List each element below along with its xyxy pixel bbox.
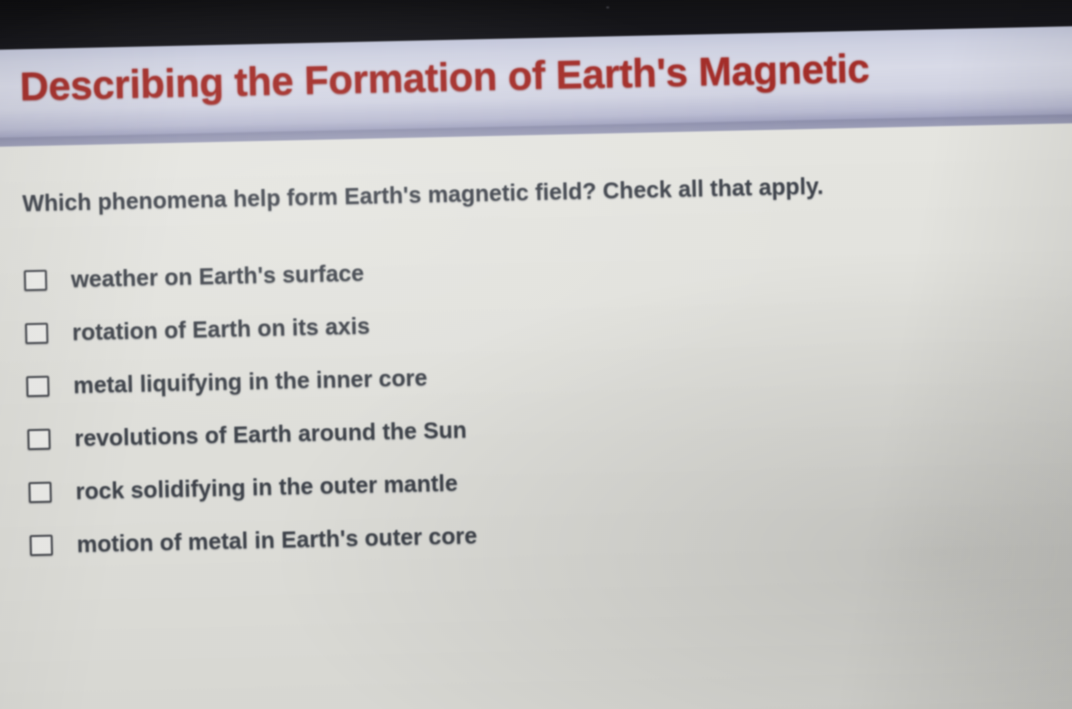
checkbox-unchecked-icon[interactable] bbox=[25, 323, 48, 344]
checkbox-unchecked-icon[interactable] bbox=[26, 376, 49, 397]
question-prompt: Which phenomena help form Earth's magnet… bbox=[22, 173, 824, 217]
checkbox-unchecked-icon[interactable] bbox=[24, 270, 47, 291]
checkbox-option-list: weather on Earth's surface rotation of E… bbox=[23, 232, 1030, 572]
photographed-screen: Describing the Formation of Earth's Magn… bbox=[0, 0, 1072, 709]
checkbox-unchecked-icon[interactable] bbox=[27, 429, 50, 450]
question-sheet: Which phenomena help form Earth's magnet… bbox=[0, 123, 1072, 709]
option-label: weather on Earth's surface bbox=[71, 260, 365, 293]
page-title: Describing the Formation of Earth's Magn… bbox=[19, 47, 870, 111]
option-label: rock solidifying in the outer mantle bbox=[75, 470, 458, 505]
option-label: metal liquifying in the inner core bbox=[73, 364, 428, 399]
bezel-speck-icon bbox=[606, 6, 609, 8]
screen-content: Describing the Formation of Earth's Magn… bbox=[0, 0, 1072, 709]
option-label: motion of metal in Earth's outer core bbox=[77, 522, 478, 558]
option-label: revolutions of Earth around the Sun bbox=[74, 417, 467, 453]
option-label: rotation of Earth on its axis bbox=[72, 313, 370, 346]
checkbox-unchecked-icon[interactable] bbox=[30, 535, 53, 556]
checkbox-unchecked-icon[interactable] bbox=[28, 482, 51, 503]
